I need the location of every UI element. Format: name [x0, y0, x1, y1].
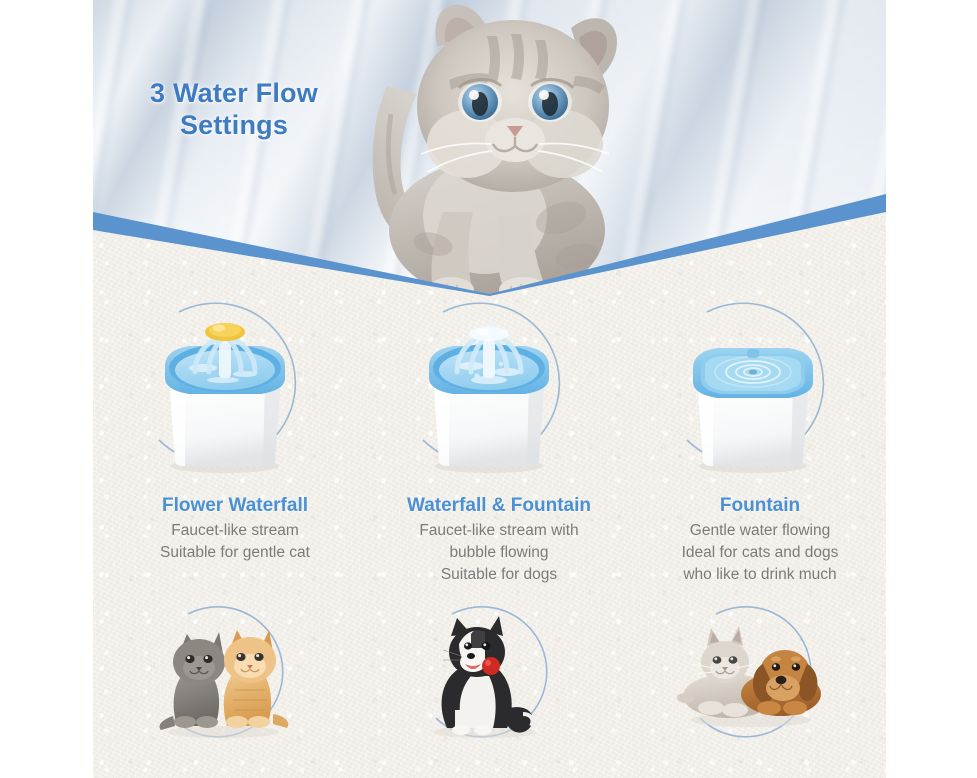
banner-title-line2: Settings — [113, 110, 355, 142]
banner-title-line1: 3 Water Flow — [150, 78, 318, 108]
caption-title: Waterfall & Fountain — [363, 494, 635, 518]
red-ball-icon — [482, 657, 500, 675]
flower-nozzle-icon — [205, 323, 245, 341]
caption-line: who like to drink much — [621, 564, 886, 586]
caption-line: bubble flowing — [363, 542, 635, 564]
content-plate: 3 Water Flow Settings — [93, 0, 886, 778]
banner-title: 3 Water Flow Settings — [113, 78, 355, 141]
caption-title: Flower Waterfall — [99, 494, 371, 518]
hero-kitten-image — [325, 0, 655, 296]
pet-image-husky-puppy — [413, 610, 563, 742]
pet-photo-cell-cat-dog — [621, 596, 885, 756]
product-cell-flower-waterfall — [93, 288, 357, 498]
caption-waterfall-fountain: Waterfall & Fountain Faucet-like stream … — [363, 494, 635, 586]
feature-captions: Flower Waterfall Faucet-like stream Suit… — [93, 494, 886, 594]
pet-photo-row — [93, 596, 886, 756]
product-row — [93, 288, 886, 498]
caption-line: Suitable for gentle cat — [99, 542, 371, 564]
caption-line: Faucet-like stream — [99, 520, 371, 542]
dome-nozzle-icon — [469, 325, 509, 341]
product-cell-fountain — [621, 288, 885, 498]
fountain-image-fountain — [673, 306, 833, 474]
caption-flower-waterfall: Flower Waterfall Faucet-like stream Suit… — [99, 494, 371, 564]
fountain-image-flower-waterfall — [145, 306, 305, 474]
pet-photo-cell-puppy — [357, 596, 621, 756]
caption-line: Gentle water flowing — [621, 520, 886, 542]
caption-title: Fountain — [621, 494, 886, 518]
product-infographic: 3 Water Flow Settings — [0, 0, 977, 778]
fountain-image-waterfall-fountain — [409, 306, 569, 474]
hero-banner: 3 Water Flow Settings — [93, 0, 886, 296]
caption-fountain: Fountain Gentle water flowing Ideal for … — [621, 494, 886, 586]
pet-image-cat-and-dachshund — [677, 610, 827, 742]
caption-line: Faucet-like stream with — [363, 520, 635, 542]
pet-photo-cell-kittens — [93, 596, 357, 756]
caption-line: Suitable for dogs — [363, 564, 635, 586]
product-cell-waterfall-fountain — [357, 288, 621, 498]
pet-image-two-kittens — [149, 610, 299, 742]
caption-line: Ideal for cats and dogs — [621, 542, 886, 564]
